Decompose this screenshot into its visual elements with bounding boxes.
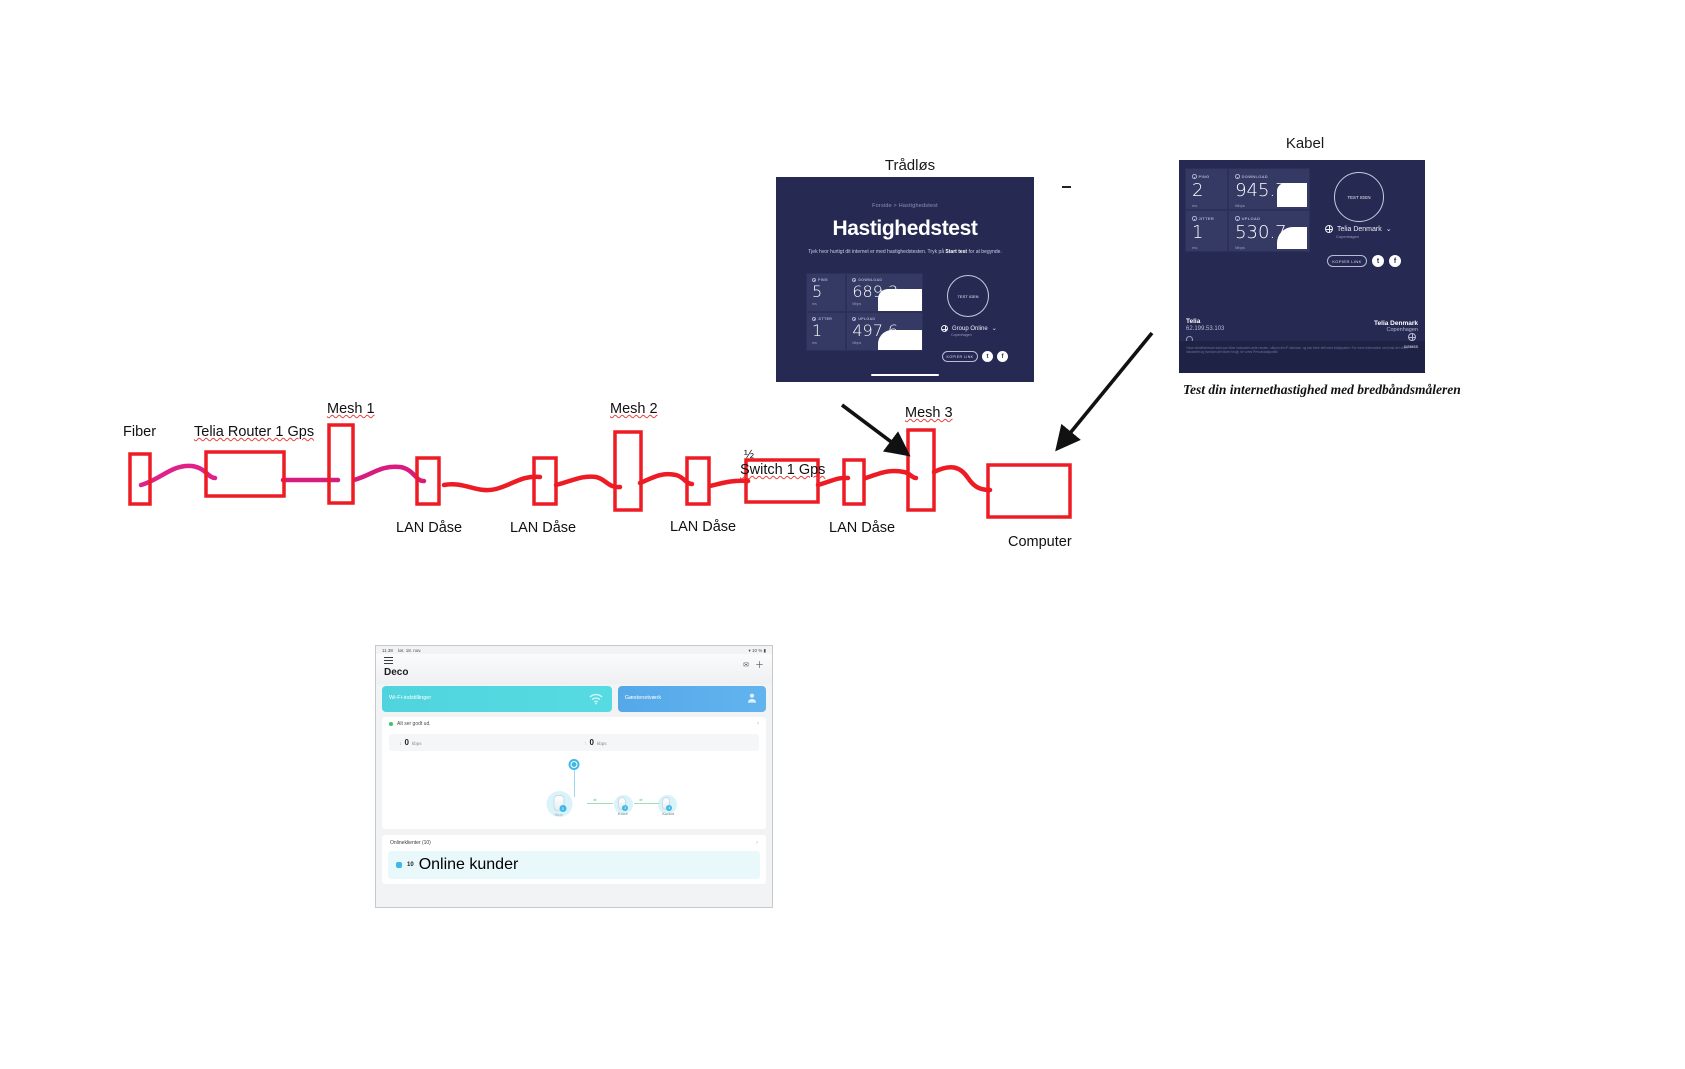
status-time: 11.38: [382, 648, 393, 653]
download-icon: [1235, 174, 1240, 179]
add-icon[interactable]: ＋: [755, 658, 764, 671]
cable-metric-jitter-value: 1: [1192, 224, 1221, 242]
clients-panel: Onlineklienter (10) › 10 Online kunder: [382, 835, 766, 884]
download-throughput: ↓ 0 kbps: [389, 738, 574, 747]
cable-share-row: KOPIER LINK t f: [1327, 255, 1401, 267]
globe-icon: [941, 325, 948, 332]
download-sparkline: [878, 289, 922, 311]
label-switch: Switch 1 Gps: [740, 462, 825, 478]
cable-server-selector[interactable]: Telia Denmark ⌄: [1325, 225, 1392, 233]
wireless-title: Hastighedstest: [776, 217, 1034, 241]
cable-metric-upload-label: UPLOAD: [1235, 216, 1303, 221]
wireless-caption-text: Trådløs: [885, 157, 935, 174]
cable-server-name: Telia Denmark: [1337, 226, 1382, 233]
wireless-subtitle-pre: Tjek hvor hurtigt dit internet er med ha…: [808, 249, 945, 255]
clients-count: 10: [407, 862, 414, 868]
label-mesh-1: Mesh 1: [327, 401, 375, 417]
chevron-down-icon: ⌄: [992, 325, 997, 332]
metric-ping-unit: ms: [812, 302, 840, 306]
wireless-caption: Trådløs: [785, 157, 1035, 174]
cable-metric-ping-label: PING: [1192, 174, 1221, 179]
metric-jitter: JITTER 1 ms: [806, 312, 846, 351]
cable-metric-ping-unit: ms: [1192, 203, 1221, 208]
metric-ping-value: 5: [812, 284, 840, 300]
label-lan-1: LAN Dåse: [396, 520, 462, 536]
deco-tablet-screenshot: 11.38 lør. 18. nov. ▾ 10 % ▮ ✉ ＋ Deco Wi…: [375, 645, 773, 908]
online-clients-row[interactable]: 10 Online kunder: [388, 851, 760, 879]
wireless-metric-grid: PING 5 ms DOWNLOAD 689.3 Mbps JITTER 1 m…: [806, 273, 923, 351]
label-switch-half: ½: [744, 447, 754, 461]
cable-metric-ping: PING 2 ms: [1185, 168, 1228, 210]
arrow-cable-to-computer: [1040, 325, 1170, 465]
wireless-speedtest-panel: Forside > Hastighedstest Hastighedstest …: [776, 177, 1034, 382]
wireless-share-row: KOPIER LINK t f: [942, 351, 1008, 362]
cable-isp-block: Telia 62.199.53.103: [1186, 318, 1224, 343]
mesh-node-2[interactable]: 3 Entre: [618, 797, 628, 816]
cable-metric-upload: UPLOAD 530.7 Mbps: [1228, 210, 1310, 252]
label-telia-router: Telia Router 1 Gps: [194, 424, 314, 440]
mesh-node-3[interactable]: 4 Kontor: [662, 797, 674, 816]
cable-metric-grid: PING 2 ms DOWNLOAD 945.7 Mbps JITTER 1 m…: [1185, 168, 1310, 252]
cable-speedtest-panel: PING 2 ms DOWNLOAD 945.7 Mbps JITTER 1 m…: [1179, 160, 1425, 373]
wireless-copy-link-label: KOPIER LINK: [947, 355, 974, 359]
ping-icon: [1192, 174, 1197, 179]
jitter-icon: [812, 317, 816, 321]
cable-caption-text: Kabel: [1286, 135, 1324, 152]
wifi-settings-card[interactable]: Wi-Fi-indstillinger: [382, 686, 612, 712]
cable-metric-jitter-unit: ms: [1192, 245, 1221, 250]
health-status-row[interactable]: Alt ser godt ud. ›: [382, 717, 766, 731]
link-quality-icon-2: ⇄: [639, 797, 642, 802]
cable-metric-download: DOWNLOAD 945.7 Mbps: [1228, 168, 1310, 210]
cable-test-again-button[interactable]: TEST IGEN: [1334, 172, 1384, 222]
label-mesh-2-text: Mesh 2: [610, 401, 658, 417]
link-quality-icon-1: ⇄: [593, 797, 596, 802]
download-throughput-value: 0: [405, 738, 409, 747]
label-fiber: Fiber: [123, 424, 156, 440]
deco-header: ✉ ＋ Deco: [376, 654, 772, 684]
wireless-server-city: Copenhagen: [951, 333, 972, 337]
label-lan-2: LAN Dåse: [510, 520, 576, 536]
wifi-settings-label: Wi-Fi-indstillinger: [389, 695, 431, 701]
cable-metric-jitter-label: JITTER: [1192, 216, 1221, 221]
cable-footer-caption: Test din internethastighed med bredbånds…: [1183, 382, 1461, 398]
clients-icon: [396, 862, 402, 868]
wireless-server-name: Group Online: [952, 326, 988, 332]
jitter-icon: [1192, 216, 1197, 221]
wireless-subtitle: Tjek hvor hurtigt dit internet er med ha…: [776, 249, 1034, 255]
header-actions: ✉ ＋: [743, 658, 764, 671]
internet-node[interactable]: [569, 759, 580, 770]
mesh-link-2: [634, 803, 660, 804]
cable-metric-download-label: DOWNLOAD: [1235, 174, 1303, 179]
facebook-icon[interactable]: f: [1389, 255, 1401, 267]
cable-copy-link-label: KOPIER LINK: [1332, 259, 1362, 264]
cable-dismiss-button[interactable]: DISMISS: [1404, 345, 1418, 349]
metric-upload: UPLOAD 497.6 Mbps: [846, 312, 923, 351]
wireless-test-again-label: TEST IGEN: [957, 294, 978, 299]
clients-row-label: Online kunder: [419, 856, 519, 874]
deco-device-icon: 3: [553, 795, 564, 811]
cable-server-city: Copenhagen: [1336, 234, 1359, 239]
node-client-count: 3: [559, 805, 566, 812]
wireless-test-again-button[interactable]: TEST IGEN: [947, 275, 989, 317]
internet-link-line: [574, 770, 575, 797]
tablet-status-bar: 11.38 lør. 18. nov. ▾ 10 % ▮: [376, 646, 772, 654]
wifi-icon: [588, 691, 604, 707]
cable-test-again-label: TEST IGEN: [1347, 195, 1370, 200]
label-mesh-1-text: Mesh 1: [327, 401, 375, 417]
twitter-icon[interactable]: t: [982, 351, 993, 362]
clients-header-row[interactable]: Onlineklienter (10) ›: [382, 835, 766, 851]
deco-device-icon: 4: [662, 797, 670, 810]
guest-user-icon: [745, 691, 759, 705]
mesh-link-1: [587, 803, 613, 804]
cable-footer-server: Telia Denmark Copenhagen: [1374, 320, 1418, 333]
globe-icon-footer: [1408, 333, 1416, 341]
wireless-subtitle-bold: Start test: [945, 249, 967, 255]
facebook-icon[interactable]: f: [997, 351, 1008, 362]
twitter-icon[interactable]: t: [1372, 255, 1384, 267]
chevron-down-icon: ⌄: [1386, 225, 1392, 233]
app-title: Deco: [384, 667, 764, 678]
mail-icon[interactable]: ✉: [743, 661, 749, 669]
upload-sparkline: [878, 330, 922, 350]
cable-footer-name: Telia Denmark: [1374, 320, 1418, 327]
status-dot-icon: [389, 722, 393, 726]
wireless-subtitle-post: for at begynde.: [967, 249, 1002, 255]
upload-arrow-icon: ↑: [584, 741, 587, 747]
stray-dash-mark: [1062, 186, 1071, 188]
globe-icon: [1325, 225, 1333, 233]
cable-isp-ip: 62.199.53.103: [1186, 326, 1224, 332]
metric-jitter-unit: ms: [812, 341, 840, 345]
label-lan-4: LAN Dåse: [829, 520, 895, 536]
upload-throughput-value: 0: [590, 738, 594, 747]
chevron-right-icon: ›: [756, 840, 758, 846]
progress-indicator: [871, 374, 939, 376]
metric-download: DOWNLOAD 689.3 Mbps: [846, 273, 923, 312]
cable-download-sparkline: [1277, 183, 1307, 207]
download-arrow-icon: ↓: [399, 741, 402, 747]
cable-metric-jitter: JITTER 1 ms: [1185, 210, 1228, 252]
metric-ping: PING 5 ms: [806, 273, 846, 312]
guest-network-card[interactable]: Gæstenetværk: [618, 686, 766, 712]
guest-network-label: Gæstenetværk: [625, 695, 661, 701]
cable-isp-name: Telia: [1186, 318, 1224, 325]
label-switch-text: Switch 1 Gps: [740, 462, 825, 478]
cable-metric-ping-value: 2: [1192, 182, 1221, 200]
download-throughput-unit: kbps: [412, 741, 422, 746]
network-status-panel: Alt ser godt ud. › ↓ 0 kbps ↑ 0 kbps: [382, 717, 766, 829]
ping-icon: [812, 278, 816, 282]
cable-footer-caption-text: Test din internethastighed med bredbånds…: [1183, 382, 1461, 397]
mesh-node-main[interactable]: 3 Stue: [553, 795, 564, 817]
chevron-right-icon: ›: [757, 721, 759, 727]
upload-throughput: ↑ 0 kbps: [574, 738, 759, 747]
mesh-topology: 3 Stue ⇄ 3 Entre ⇄ 4 Kontor: [382, 751, 766, 829]
cable-caption: Kabel: [1185, 135, 1425, 152]
cable-copy-link-button[interactable]: KOPIER LINK: [1327, 255, 1367, 267]
label-computer: Computer: [1008, 534, 1072, 550]
upload-throughput-unit: kbps: [597, 741, 607, 746]
cable-privacy-text: Visse identificerbare data kan blive ind…: [1186, 346, 1408, 354]
menu-icon[interactable]: [384, 657, 764, 664]
label-telia-router-text: Telia Router 1 Gps: [194, 424, 314, 440]
deco-device-icon: 3: [618, 797, 626, 810]
wireless-copy-link-button[interactable]: KOPIER LINK: [942, 351, 978, 362]
quick-cards: Wi-Fi-indstillinger Gæstenetværk: [376, 686, 772, 712]
clients-header-label: Onlineklienter (10): [390, 840, 431, 846]
label-lan-3: LAN Dåse: [670, 519, 736, 535]
health-status-text: Alt ser godt ud.: [397, 721, 431, 727]
label-mesh-2: Mesh 2: [610, 401, 658, 417]
throughput-row: ↓ 0 kbps ↑ 0 kbps: [389, 734, 759, 751]
metric-jitter-value: 1: [812, 323, 840, 339]
upload-icon: [1235, 216, 1240, 221]
arrow-wireless-to-mesh3: [830, 390, 940, 490]
wireless-server-selector[interactable]: Group Online ⌄: [941, 325, 997, 332]
wireless-breadcrumb: Forside > Hastighedstest: [776, 203, 1034, 209]
cable-upload-sparkline: [1277, 227, 1307, 249]
cable-privacy-banner: Visse identificerbare data kan blive ind…: [1179, 341, 1425, 373]
status-date: lør. 18. nov.: [398, 648, 421, 653]
